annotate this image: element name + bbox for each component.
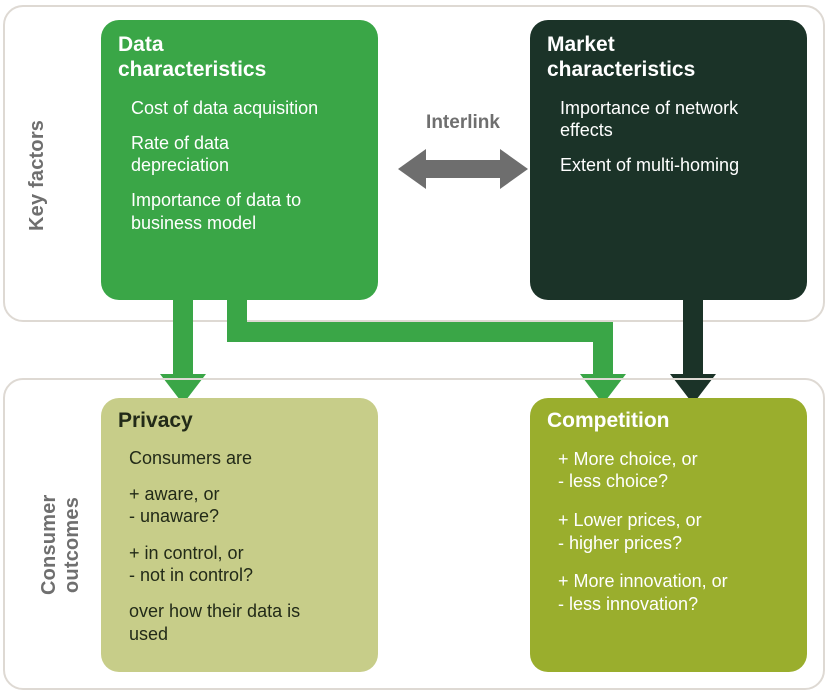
interlink-label: Interlink [404,112,522,134]
box-competition-pair-minus: - higher prices? [558,532,807,555]
group-label-consumer-outcomes: Consumer outcomes [38,455,84,635]
box-competition[interactable]: Competition + More choice, or - less cho… [530,398,807,672]
box-competition-pair: + More innovation, or - less innovation? [558,570,807,615]
box-competition-pair-minus: - less choice? [558,470,807,493]
box-competition-pair-plus: + More choice, or [558,448,807,471]
box-competition-pair-plus: + More innovation, or [558,570,807,593]
box-privacy-pair: + in control, or - not in control? [129,542,378,587]
box-privacy-title: Privacy [118,409,378,434]
box-privacy-pair-plus: + aware, or [129,483,378,505]
box-privacy-body: Consumers are + aware, or - unaware? + i… [129,447,378,645]
box-competition-pair: + Lower prices, or - higher prices? [558,509,807,554]
box-data-item-list: Cost of data acquisition Rate of data de… [131,97,378,235]
box-competition-title: Competition [547,409,807,434]
box-data-item: Importance of data to business model [131,189,378,234]
box-privacy-pair: + aware, or - unaware? [129,483,378,528]
box-competition-pair-plus: + Lower prices, or [558,509,807,532]
group-label-key-factors: Key factors [26,90,49,260]
box-privacy-pair-minus: - not in control? [129,564,378,586]
box-data-characteristics[interactable]: Data characteristics Cost of data acquis… [101,20,378,300]
box-privacy-intro: Consumers are [129,447,378,469]
box-data-title: Data characteristics [118,33,378,83]
box-market-item: Extent of multi-homing [560,154,807,176]
box-competition-body: + More choice, or - less choice? + Lower… [558,448,807,616]
box-market-item-list: Importance of network effects Extent of … [560,97,807,177]
box-market-item: Importance of network effects [560,97,807,142]
box-data-item: Rate of data depreciation [131,132,378,177]
box-competition-pair-minus: - less innovation? [558,593,807,616]
box-privacy-pair-plus: + in control, or [129,542,378,564]
diagram-canvas: Key factors Data characteristics Cost of… [0,0,830,700]
box-privacy-pair-minus: - unaware? [129,505,378,527]
box-competition-pair: + More choice, or - less choice? [558,448,807,493]
box-data-item: Cost of data acquisition [131,97,378,119]
box-market-title: Market characteristics [547,33,807,83]
box-privacy[interactable]: Privacy Consumers are + aware, or - unaw… [101,398,378,672]
interlink-double-arrow-icon [398,146,528,192]
box-market-characteristics[interactable]: Market characteristics Importance of net… [530,20,807,300]
box-privacy-outro: over how their data is used [129,600,378,645]
